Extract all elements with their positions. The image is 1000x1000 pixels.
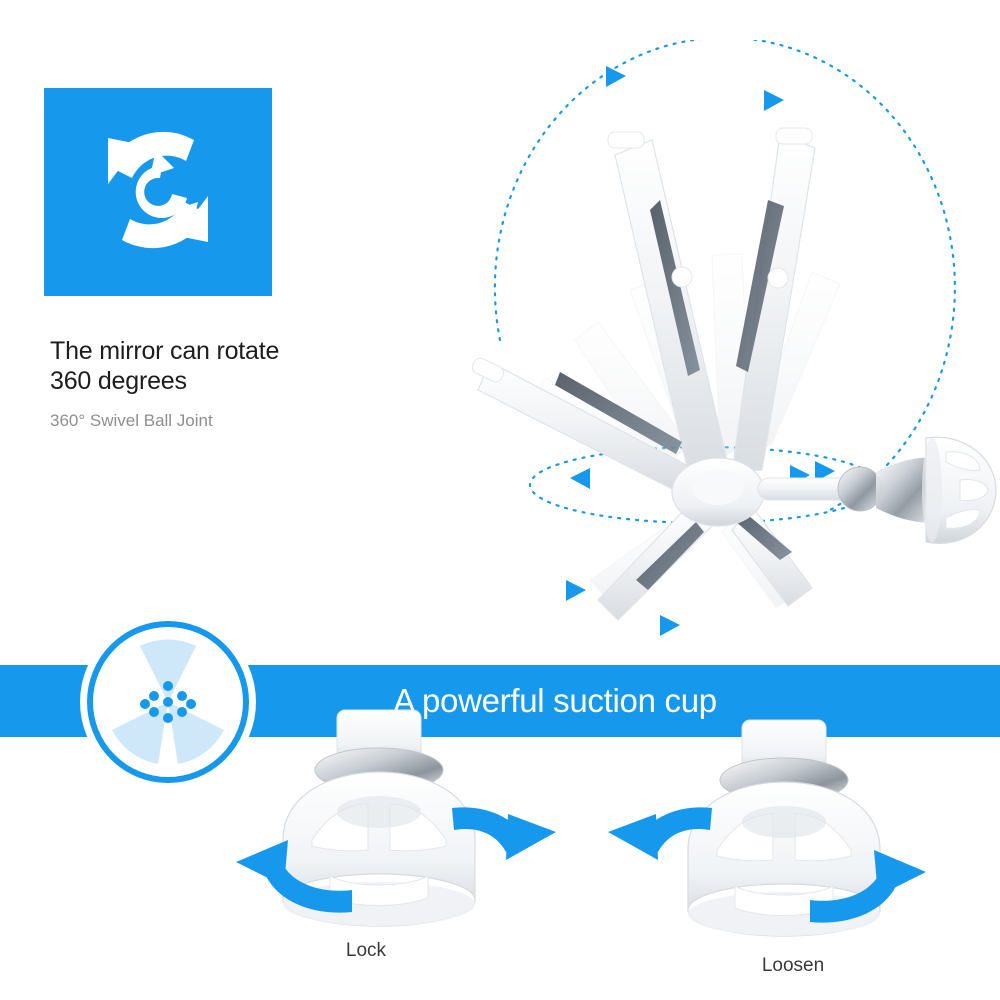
rotate-icon-badge (44, 88, 272, 296)
swivel-arm-and-cup (758, 437, 996, 543)
product-photo-rotating-mount (360, 40, 1000, 660)
headline-block: The mirror can rotate 360 degrees 360° S… (50, 336, 390, 432)
circular-rotate-arrows-icon (44, 88, 272, 296)
page-title-line-1: The mirror can rotate (50, 336, 390, 366)
caption-loosen: Loosen (693, 955, 893, 977)
page-title-line-2: 360 degrees (50, 366, 390, 396)
caption-lock: Lock (266, 940, 466, 962)
page-subtitle: 360° Swivel Ball Joint (50, 410, 390, 432)
center-hub (672, 458, 764, 526)
